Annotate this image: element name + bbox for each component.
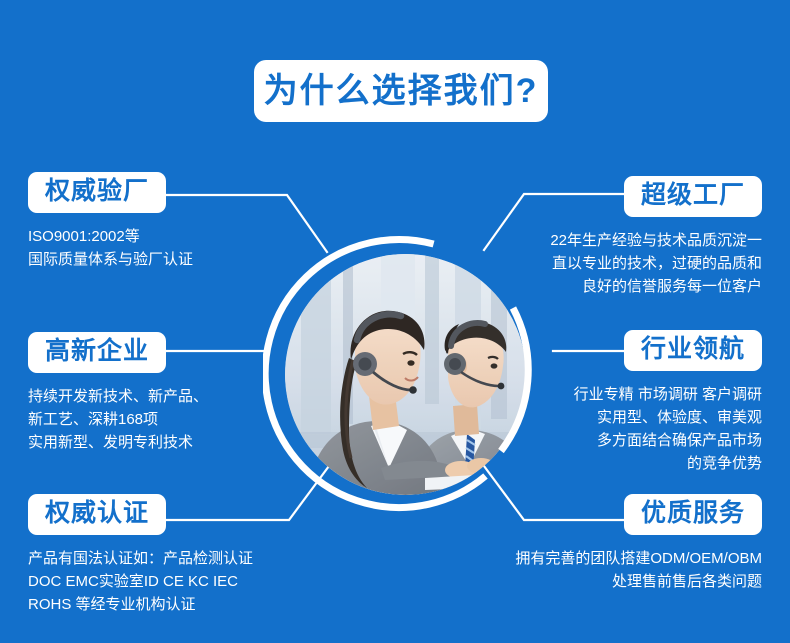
agents-photo bbox=[285, 254, 526, 495]
feature-description: 行业专精 市场调研 客户调研 实用型、体验度、审美观 多方面结合确保产品市场 的… bbox=[510, 383, 762, 475]
feature-label-pill: 行业领航 bbox=[624, 330, 762, 371]
why-choose-us-banner: 为什么选择我们? bbox=[0, 0, 790, 643]
page-title-pill: 为什么选择我们? bbox=[254, 60, 548, 122]
feature-block-authoritative-audit: 权威验厂 ISO9001:2002等 国际质量体系与验厂认证 bbox=[28, 172, 193, 271]
feature-label: 优质服务 bbox=[641, 501, 745, 526]
feature-block-quality-service: 优质服务 拥有完善的团队搭建ODM/OEM/OBM 处理售前售后各类问题 bbox=[452, 494, 762, 593]
feature-description: 22年生产经验与技术品质沉淀一 直以专业的技术，过硬的品质和 良好的信誉服务每一… bbox=[510, 229, 762, 298]
page-title: 为什么选择我们? bbox=[264, 74, 539, 108]
feature-label: 权威认证 bbox=[45, 501, 149, 526]
feature-label-pill: 权威验厂 bbox=[28, 172, 166, 213]
feature-label: 行业领航 bbox=[641, 337, 745, 362]
feature-label: 高新企业 bbox=[45, 339, 149, 364]
feature-block-industry-leadership: 行业领航 行业专精 市场调研 客户调研 实用型、体验度、审美观 多方面结合确保产… bbox=[510, 330, 762, 475]
feature-description: 产品有国法认证如：产品检测认证 DOC EMC实验室ID CE KC IEC R… bbox=[28, 547, 253, 616]
feature-label-pill: 高新企业 bbox=[28, 332, 166, 373]
feature-description: 持续开发新技术、新产品、 新工艺、深耕168项 实用新型、发明专利技术 bbox=[28, 385, 208, 454]
feature-label: 超级工厂 bbox=[641, 183, 745, 208]
feature-block-hitech-enterprise: 高新企业 持续开发新技术、新产品、 新工艺、深耕168项 实用新型、发明专利技术 bbox=[28, 332, 208, 454]
feature-description: 拥有完善的团队搭建ODM/OEM/OBM 处理售前售后各类问题 bbox=[452, 547, 762, 593]
feature-label-pill: 优质服务 bbox=[624, 494, 762, 535]
feature-label: 权威验厂 bbox=[45, 179, 149, 204]
headset-agents-photo-icon bbox=[285, 254, 526, 495]
center-stage bbox=[263, 232, 548, 517]
feature-block-authoritative-certification: 权威认证 产品有国法认证如：产品检测认证 DOC EMC实验室ID CE KC … bbox=[28, 494, 253, 616]
feature-label-pill: 权威认证 bbox=[28, 494, 166, 535]
feature-block-super-factory: 超级工厂 22年生产经验与技术品质沉淀一 直以专业的技术，过硬的品质和 良好的信… bbox=[510, 176, 762, 298]
feature-label-pill: 超级工厂 bbox=[624, 176, 762, 217]
feature-description: ISO9001:2002等 国际质量体系与验厂认证 bbox=[28, 225, 193, 271]
